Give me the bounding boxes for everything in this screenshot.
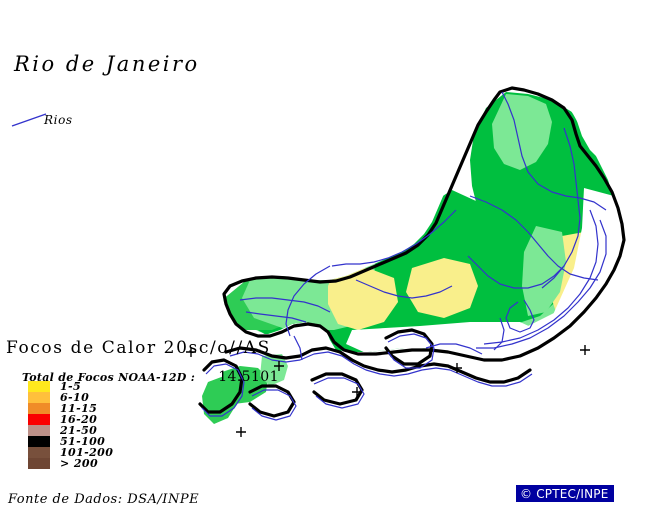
legend-swatch (28, 425, 50, 436)
copyright-icon: © (520, 488, 532, 500)
focos-total-value: 14.5101 (218, 369, 279, 385)
legend-row: > 200 (28, 458, 113, 469)
legend-swatch (28, 414, 50, 425)
legend-label: > 200 (60, 458, 98, 469)
focos-heading: Focos de Calor 20sc/o//AS (6, 338, 271, 358)
cptec-inpe-label: CPTEC/INPE (536, 487, 608, 501)
rivers-legend-label: Rios (44, 113, 73, 127)
page-title: Rio de Janeiro (14, 52, 200, 76)
cptec-inpe-badge: © CPTEC/INPE (516, 485, 614, 502)
legend-swatch (28, 381, 50, 392)
legend-swatch (28, 458, 50, 469)
river-line-icon (12, 114, 46, 126)
data-source-note: Fonte de Dados: DSA/INPE (8, 492, 199, 507)
legend-swatch (28, 392, 50, 403)
region-pale-yellow-midright (406, 258, 478, 318)
map-page: Rio de Janeiro Rios Focos de Calor 20sc/… (0, 0, 648, 518)
legend-swatch (28, 447, 50, 458)
legend-swatch (28, 403, 50, 414)
color-scale-legend: 1-5 6-10 11-15 16-20 21-50 51-100 101-20… (28, 381, 113, 469)
legend-swatch (28, 436, 50, 447)
